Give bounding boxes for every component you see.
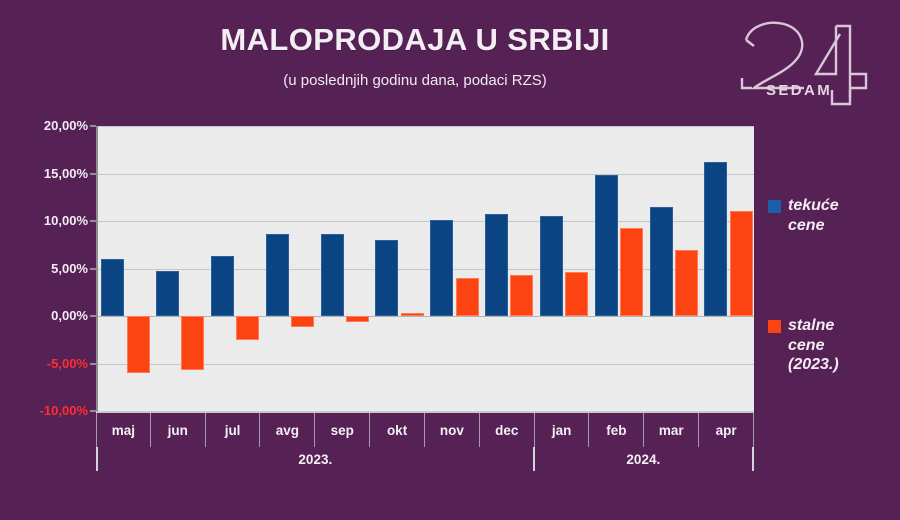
x-axis: majjunjulavgsepoktnovdecjanfebmarapr2023… (96, 411, 754, 473)
y-tick-5: -5,00% (0, 356, 88, 371)
bar-constant-nov[interactable] (456, 278, 479, 316)
bar-constant-jan[interactable] (565, 272, 588, 316)
y-tick-3: 5,00% (0, 261, 88, 276)
x-year-2023: 2023. (96, 447, 535, 471)
y-tick-6: -10,00% (0, 403, 88, 418)
plot-area (96, 126, 754, 411)
bar-group-avg (263, 126, 318, 411)
bar-group-okt (372, 126, 427, 411)
bar-constant-okt[interactable] (401, 313, 424, 316)
legend-swatch-icon (768, 200, 781, 213)
bar-current-avg[interactable] (266, 234, 289, 316)
bar-current-dec[interactable] (485, 214, 508, 316)
bar-current-jun[interactable] (156, 271, 179, 316)
bar-current-jul[interactable] (211, 256, 234, 316)
bar-group-nov (427, 126, 482, 411)
bar-current-apr[interactable] (704, 162, 727, 316)
bar-group-maj (98, 126, 153, 411)
x-tick-sep: sep (315, 413, 370, 447)
x-year-2024: 2024. (535, 447, 754, 471)
chart-page: MALOPRODAJA U SRBIJI (u poslednjih godin… (0, 0, 900, 520)
bar-current-nov[interactable] (430, 220, 453, 316)
x-tick-okt: okt (370, 413, 425, 447)
bar-group-sep (317, 126, 372, 411)
x-tick-jan: jan (535, 413, 590, 447)
bar-group-jul (208, 126, 263, 411)
bar-constant-maj[interactable] (127, 316, 150, 373)
y-tick-0: 20,00% (0, 118, 88, 133)
page-title: MALOPRODAJA U SRBIJI (0, 22, 830, 58)
bar-group-jun (153, 126, 208, 411)
bar-group-apr (701, 126, 756, 411)
bar-current-feb[interactable] (595, 175, 618, 316)
x-tick-jun: jun (151, 413, 206, 447)
x-tick-dec: dec (480, 413, 535, 447)
y-tick-4: 0,00% (0, 308, 88, 323)
x-tick-feb: feb (590, 413, 645, 447)
bar-current-okt[interactable] (375, 240, 398, 316)
x-tick-apr: apr (699, 413, 754, 447)
bar-constant-apr[interactable] (730, 211, 753, 316)
bar-group-container (98, 126, 754, 411)
legend-label-constant-prices: stalnecene(2023.) (788, 316, 839, 375)
bar-constant-dec[interactable] (510, 275, 533, 316)
y-tick-2: 10,00% (0, 213, 88, 228)
bar-group-feb (592, 126, 647, 411)
legend-item-current-prices[interactable]: tekućecene (768, 196, 839, 235)
x-tick-maj: maj (96, 413, 151, 447)
bar-group-mar (646, 126, 701, 411)
bar-constant-sep[interactable] (346, 316, 369, 322)
logo-word: SEDAM (766, 82, 832, 99)
y-tick-1: 15,00% (0, 166, 88, 181)
24-sedam-logo: SEDAM (728, 14, 878, 110)
x-tick-avg: avg (261, 413, 316, 447)
bar-constant-mar[interactable] (675, 250, 698, 317)
x-tick-jul: jul (206, 413, 261, 447)
x-tick-nov: nov (425, 413, 480, 447)
bar-constant-jul[interactable] (236, 316, 259, 340)
bar-constant-jun[interactable] (181, 316, 204, 370)
bar-current-maj[interactable] (101, 259, 124, 316)
x-tick-mar: mar (644, 413, 699, 447)
legend-item-constant-prices[interactable]: stalnecene(2023.) (768, 316, 839, 375)
legend-label-current-prices: tekućecene (788, 196, 839, 235)
bar-constant-avg[interactable] (291, 316, 314, 327)
bar-current-mar[interactable] (650, 207, 673, 316)
page-subtitle: (u poslednjih godinu dana, podaci RZS) (0, 72, 830, 89)
bar-group-jan (537, 126, 592, 411)
bar-current-jan[interactable] (540, 216, 563, 316)
bar-group-dec (482, 126, 537, 411)
legend-swatch-icon (768, 320, 781, 333)
bar-constant-feb[interactable] (620, 228, 643, 316)
bar-current-sep[interactable] (321, 234, 344, 316)
